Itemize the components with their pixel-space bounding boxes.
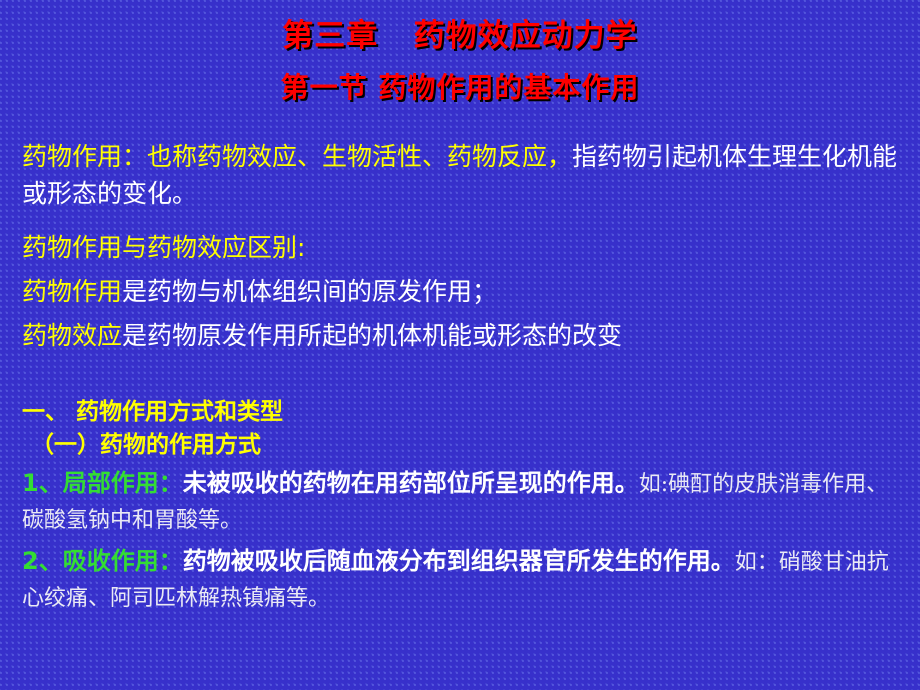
paragraph-highlight: 药物作用 — [22, 277, 122, 306]
list-item: 2、吸收作用：药物被吸收后随血液分布到组织器官所发生的作用。如：硝酸甘油抗心绞痛… — [22, 544, 910, 616]
paragraph-drug-action: 药物作用是药物与机体组织间的原发作用； — [22, 273, 906, 310]
slide-body: 药物作用：也称药物效应、生物活性、药物反应，指药物引起机体生理生化机能或形态的变… — [22, 138, 906, 368]
paragraph-highlight: 药物作用：也称药物效应、生物活性、药物反应， — [22, 142, 572, 171]
paragraph-text: 是药物原发作用所起的机体机能或形态的改变 — [122, 321, 622, 350]
slide-title-block: 第三章 药物效应动力学 第一节 药物作用的基本作用 — [0, 16, 920, 107]
chapter-title: 第三章 药物效应动力学 — [0, 16, 920, 56]
list-item-definition: 药物被吸收后随血液分布到组织器官所发生的作用。 — [183, 547, 735, 575]
list-item-label: 2、吸收作用： — [22, 547, 183, 575]
list-item-definition: 未被吸收的药物在用药部位所呈现的作用。 — [183, 469, 639, 497]
paragraph-highlight: 药物作用与药物效应区别: — [22, 233, 305, 262]
outline-heading-level-2: （一）药物的作用方式 — [22, 428, 908, 462]
paragraph-text: 是药物与机体组织间的原发作用； — [122, 277, 497, 306]
definition-list: 1、局部作用：未被吸收的药物在用药部位所呈现的作用。如:碘酊的皮肤消毒作用、碳酸… — [22, 466, 910, 616]
paragraph-drug-action-definition: 药物作用：也称药物效应、生物活性、药物反应，指药物引起机体生理生化机能或形态的变… — [22, 138, 906, 212]
section-title: 第一节 药物作用的基本作用 — [0, 69, 920, 107]
list-item-label: 1、局部作用： — [22, 469, 183, 497]
paragraph-distinction-heading: 药物作用与药物效应区别: — [22, 229, 906, 266]
list-item: 1、局部作用：未被吸收的药物在用药部位所呈现的作用。如:碘酊的皮肤消毒作用、碳酸… — [22, 466, 910, 538]
paragraph-drug-effect: 药物效应是药物原发作用所起的机体机能或形态的改变 — [22, 317, 906, 354]
outline-heading-level-1: 一、 药物作用方式和类型 — [22, 396, 908, 428]
outline-headings: 一、 药物作用方式和类型 （一）药物的作用方式 — [22, 396, 908, 462]
presentation-slide: 第三章 药物效应动力学 第一节 药物作用的基本作用 药物作用：也称药物效应、生物… — [0, 0, 920, 690]
paragraph-highlight: 药物效应 — [22, 321, 122, 350]
